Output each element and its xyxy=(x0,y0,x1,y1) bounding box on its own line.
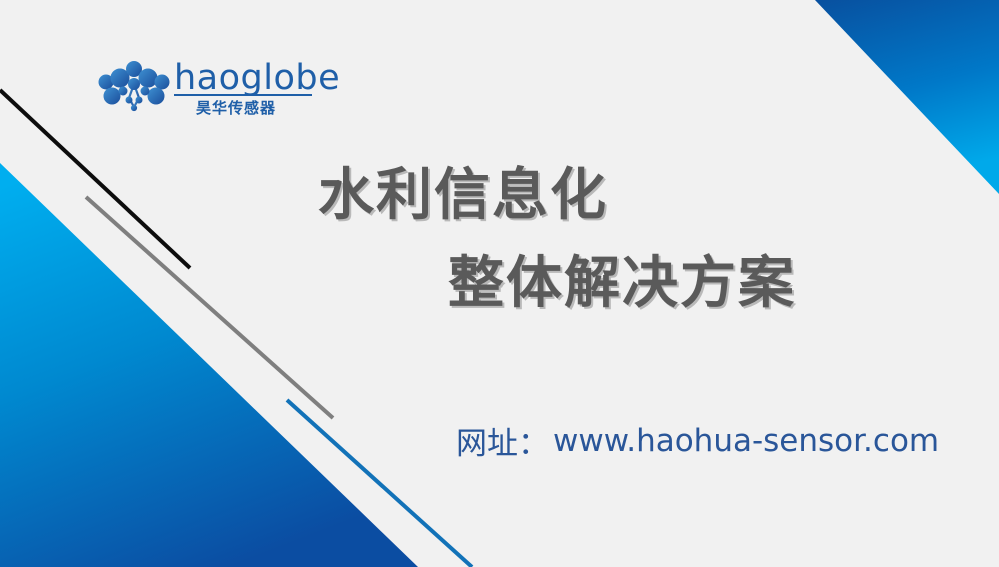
logo-subtitle-text: 昊华传感器 xyxy=(196,97,276,118)
presentation-slide: haoglobe 昊华传感器 水利信息化 整体解决方案 网址：www.haohu… xyxy=(0,0,999,567)
website-label: 网址： xyxy=(456,426,549,462)
logo-wordmark-text: haoglobe xyxy=(174,58,314,98)
website-url[interactable]: www.haohua-sensor.com xyxy=(553,423,939,459)
slide-title-line-2: 整体解决方案 xyxy=(0,248,999,320)
network-nodes-logo-icon xyxy=(96,60,172,114)
website-line: 网址：www.haohua-sensor.com xyxy=(456,418,939,463)
logo-wordmark: haoglobe xyxy=(174,58,314,98)
slide-title-group: 水利信息化 整体解决方案 xyxy=(0,160,999,320)
company-logo: haoglobe 昊华传感器 xyxy=(96,58,311,120)
logo-divider-rule xyxy=(174,94,312,96)
slide-title-line-1: 水利信息化 xyxy=(0,160,999,232)
